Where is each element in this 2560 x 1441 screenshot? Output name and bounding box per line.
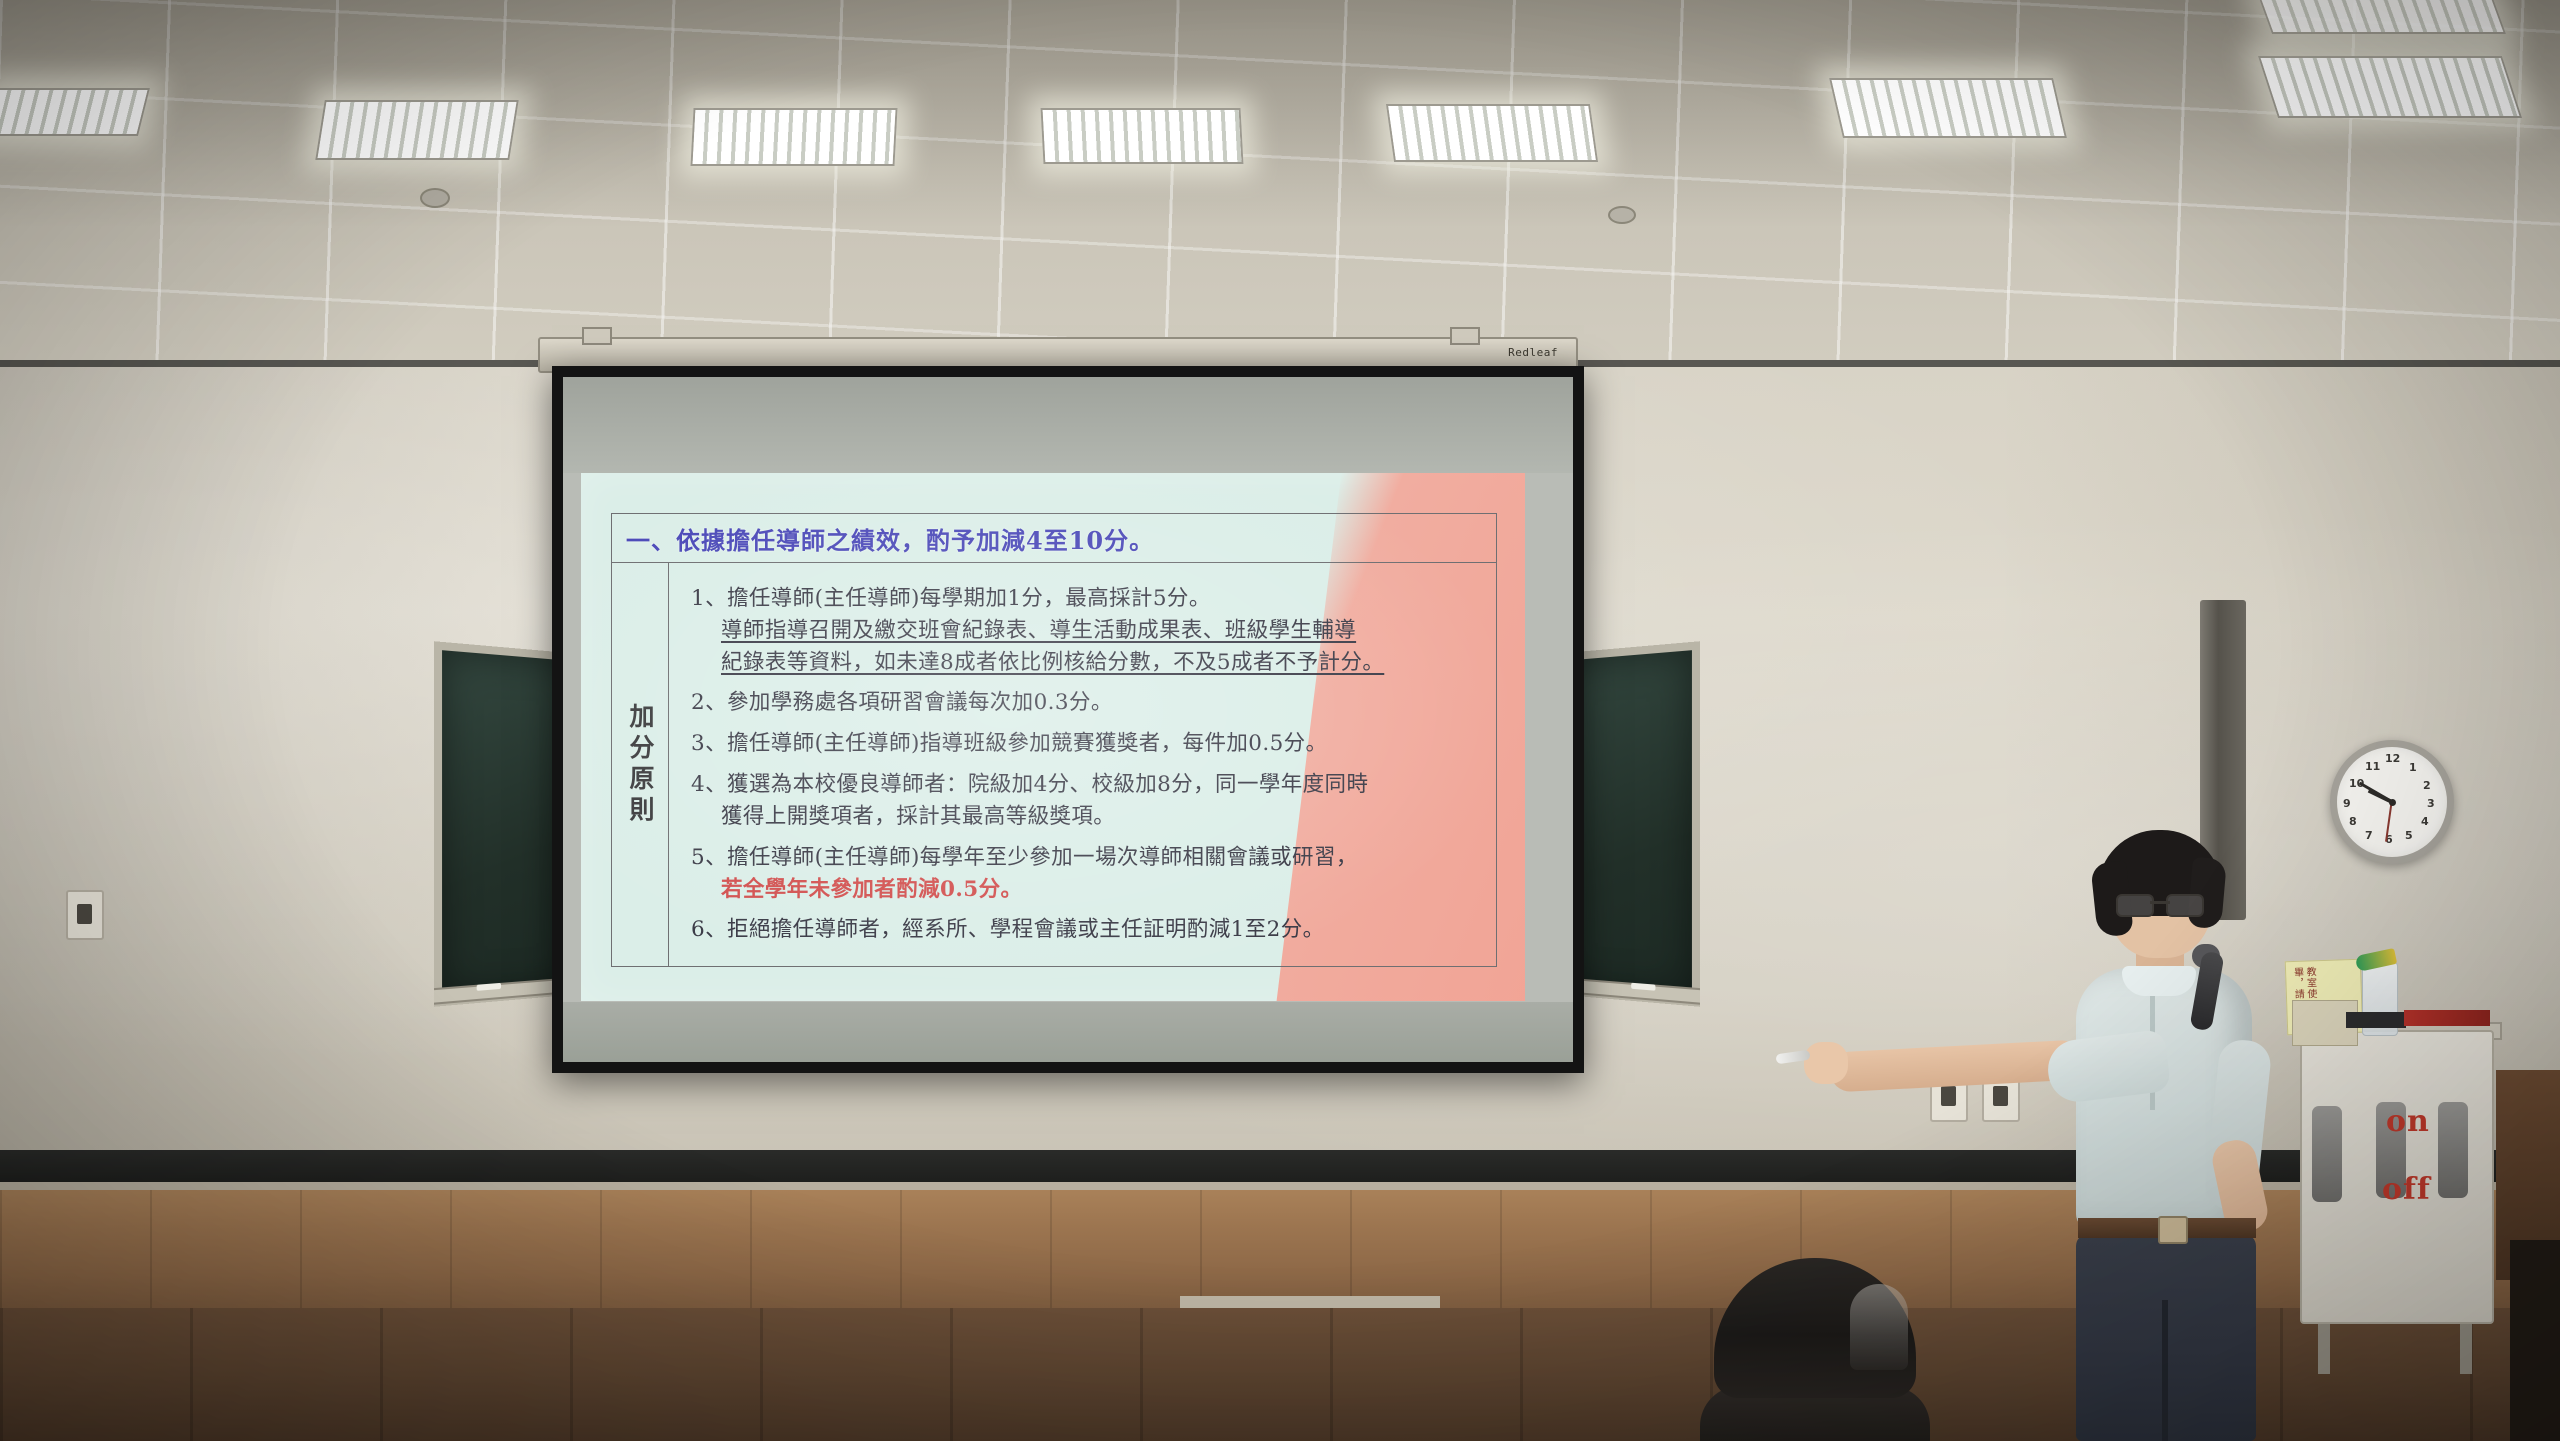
cart-leg-right: [2460, 1318, 2472, 1374]
presenter-leg-seam: [2162, 1300, 2168, 1441]
side-desk-shadow: [2510, 1240, 2560, 1441]
red-box: [2404, 1010, 2490, 1026]
presenter-left-hand: [1804, 1042, 1848, 1084]
wall-clock: 12 1 2 3 4 5 6 7 8 9 10 11: [2330, 740, 2454, 864]
screen-brand-label: Redleaf: [1508, 346, 1558, 359]
presenter-belt-buckle: [2158, 1216, 2188, 1244]
housing-bracket-left: [582, 327, 612, 345]
projected-slide: 一、依據擔任導師之績效，酌予加減4至10分。 加分原則 1、擔任導師(主任導師)…: [581, 473, 1525, 1001]
wall-outlet-left: [66, 890, 104, 940]
slide-item-1-sub-1: 導師指導召開及繳交班會紀錄表、導生活動成果表、班級學生輔導: [721, 618, 1356, 643]
clock-center-pin: [2389, 799, 2396, 806]
eyeglass-lens-left: [2116, 894, 2154, 917]
screen-bottom-band: [563, 1002, 1573, 1062]
ceiling-smoke-detector: [1608, 206, 1636, 224]
ceiling-light-7: [2258, 56, 2522, 118]
screen-top-band: [563, 377, 1573, 473]
clock-numeral-12: 12: [2385, 752, 2400, 765]
slide-items-cell: 1、擔任導師(主任導師)每學期加1分，最高採計5分。 導師指導召開及繳交班會紀錄…: [669, 563, 1496, 966]
microphone-3[interactable]: [2438, 1102, 2468, 1198]
ceiling: [0, 0, 2560, 380]
slide-item-6: 6、拒絕擔任導師者，經系所、學程會議或主任証明酌減1至2分。: [691, 914, 1478, 946]
ceiling-light-8: [2256, 0, 2506, 34]
clock-numeral-7: 7: [2365, 829, 2373, 842]
slide-item-4-sub-1: 獲得上開獎項者，採計其最高等級獎項。: [721, 804, 1115, 829]
slide-table: 一、依據擔任導師之績效，酌予加減4至10分。 加分原則 1、擔任導師(主任導師)…: [611, 513, 1497, 967]
ceiling-light-1: [0, 88, 150, 136]
slide-item-5-sub-1: 若全學年未參加者酌減0.5分。: [721, 877, 1022, 902]
slide-item-1: 1、擔任導師(主任導師)每學期加1分，最高採計5分。 導師指導召開及繳交班會紀錄…: [691, 583, 1478, 678]
eyeglasses-icon: [2116, 894, 2204, 914]
clock-numeral-2: 2: [2423, 779, 2431, 792]
screen-surface: 一、依據擔任導師之績效，酌予加減4至10分。 加分原則 1、擔任導師(主任導師)…: [563, 377, 1573, 1062]
cart-label-off: off: [2382, 1172, 2431, 1207]
slide-item-4-text: 4、獲選為本校優良導師者：院級加4分、校級加8分，同一學年度同時: [691, 769, 1478, 801]
presenter: [1990, 840, 2320, 1441]
cart-label-on: on: [2386, 1104, 2430, 1139]
housing-bracket-right: [1450, 327, 1480, 345]
clock-numeral-11: 11: [2365, 760, 2380, 773]
ceiling-shadow: [0, 0, 2560, 380]
clock-numeral-8: 8: [2349, 815, 2357, 828]
slide-item-1-text: 1、擔任導師(主任導師)每學期加1分，最高採計5分。: [691, 583, 1478, 615]
projection-screen[interactable]: 一、依據擔任導師之績效，酌予加減4至10分。 加分原則 1、擔任導師(主任導師)…: [552, 366, 1584, 1073]
ceiling-light-2: [315, 100, 519, 160]
ceiling-speaker: [420, 188, 450, 208]
eyeglass-bridge: [2150, 901, 2170, 904]
lecture-hall-photo: Redleaf 一、依據擔任導師之績效，酌予加減4至10分。 加分原則: [0, 0, 2560, 1441]
slide-item-2-text: 2、參加學務處各項研習會議每次加0.3分。: [691, 687, 1478, 719]
ceiling-light-6: [1829, 78, 2067, 138]
slide-item-3-text: 3、擔任導師(主任導師)指導班級參加競賽獲獎者，每件加0.5分。: [691, 728, 1478, 760]
clock-numeral-3: 3: [2427, 797, 2435, 810]
slide-item-6-text: 6、拒絕擔任導師者，經系所、學程會議或主任証明酌減1至2分。: [691, 914, 1478, 946]
presenter-collar: [2122, 966, 2196, 996]
slide-side-label-cell: 加分原則: [612, 563, 669, 966]
ceiling-light-3: [690, 108, 897, 166]
equipment-cart[interactable]: on off: [2300, 1030, 2494, 1324]
attendee-gray-hair-highlight: [1850, 1284, 1908, 1370]
slide-item-5: 5、擔任導師(主任導師)每學年至少參加一場次導師相關會議或研習， 若全學年未參加…: [691, 842, 1478, 906]
slide-side-label: 加分原則: [622, 703, 658, 827]
slide-item-3: 3、擔任導師(主任導師)指導班級參加競賽獲獎者，每件加0.5分。: [691, 728, 1478, 760]
slide-title-row: 一、依據擔任導師之績效，酌予加減4至10分。: [612, 514, 1496, 563]
slide-item-2: 2、參加學務處各項研習會議每次加0.3分。: [691, 687, 1478, 719]
eyeglass-lens-right: [2166, 894, 2204, 917]
slide-item-4: 4、獲選為本校優良導師者：院級加4分、校級加8分，同一學年度同時 獲得上開獎項者…: [691, 769, 1478, 833]
slide-title: 一、依據擔任導師之績效，酌予加減4至10分。: [626, 521, 1154, 556]
slide-item-1-sub-2: 紀錄表等資料，如未達8成者依比例核給分數，不及5成者不予計分。: [721, 650, 1384, 675]
seated-attendee: [1700, 1258, 1930, 1441]
clock-minute-hand: [2358, 782, 2392, 804]
slide-item-5-text: 5、擔任導師(主任導師)每學年至少參加一場次導師相關會議或研習，: [691, 842, 1478, 874]
clock-numeral-9: 9: [2343, 797, 2351, 810]
black-device-strip: [2346, 1012, 2406, 1028]
clock-numeral-4: 4: [2421, 815, 2429, 828]
ceiling-light-5: [1386, 104, 1598, 162]
clock-numeral-1: 1: [2409, 761, 2417, 774]
presenter-hair-right-side: [2187, 857, 2227, 930]
slide-table-body: 加分原則 1、擔任導師(主任導師)每學期加1分，最高採計5分。 導師指導召開及繳…: [612, 563, 1496, 966]
clock-numeral-5: 5: [2405, 829, 2413, 842]
ceiling-light-4: [1041, 108, 1244, 164]
